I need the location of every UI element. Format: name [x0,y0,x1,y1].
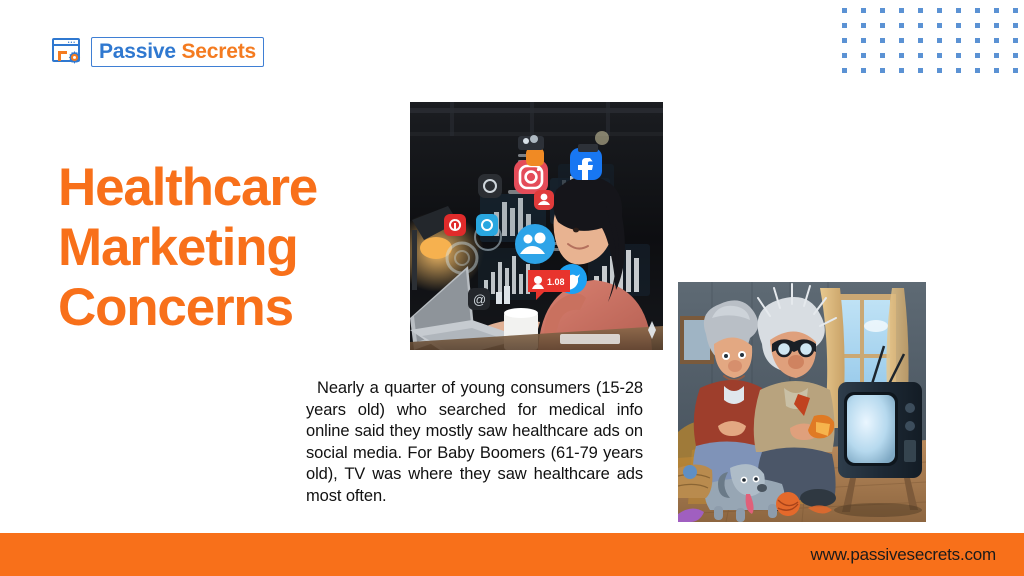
decorative-dot [975,53,980,58]
svg-text:1.08: 1.08 [547,277,565,287]
decorative-dot [842,53,847,58]
decorative-dot [994,38,999,43]
decorative-dot [880,23,885,28]
decorative-dot [956,38,961,43]
page-title-line-2: Marketing [58,218,408,278]
decorative-dot [1013,68,1018,73]
decorative-dot [937,8,942,13]
decorative-dot [975,68,980,73]
footer-bar: www.passivesecrets.com [0,533,1024,576]
decorative-dot [899,38,904,43]
decorative-dot [861,8,866,13]
decorative-dot [842,68,847,73]
decorative-dot [899,8,904,13]
logo-word-secrets: Secrets [181,40,256,63]
decorative-dot [918,38,923,43]
decorative-dot [994,53,999,58]
decorative-dot [937,53,942,58]
decorative-dot [994,8,999,13]
decorative-dot [956,8,961,13]
decorative-dot [994,68,999,73]
footer-website-url[interactable]: www.passivesecrets.com [811,545,997,565]
decorative-dot [842,8,847,13]
page-title-line-3: Concerns [58,278,408,338]
decorative-dot [880,68,885,73]
decorative-dot [937,23,942,28]
decorative-dot [861,68,866,73]
decorative-dot [956,23,961,28]
decorative-dot [937,68,942,73]
svg-text:@: @ [473,292,486,307]
decorative-dot [861,53,866,58]
decorative-dot [899,23,904,28]
site-logo[interactable]: ••• Passive Secrets [52,36,264,68]
body-paragraph: Nearly a quarter of young consumers (15-… [306,378,643,507]
decorative-dot [880,53,885,58]
decorative-dot [842,38,847,43]
decorative-dot [937,38,942,43]
decorative-dot [861,23,866,28]
decorative-dot [975,8,980,13]
decorative-dot [918,23,923,28]
decorative-dot [899,68,904,73]
decorative-dot [918,8,923,13]
browser-titlebar-icon: ••• [54,40,78,46]
image-elderly-couple-watching-tv [678,282,926,522]
decorative-dot [956,53,961,58]
decorative-dot [975,23,980,28]
browser-dots-icon: ••• [68,41,76,45]
decorative-dot [918,68,923,73]
logo-wordmark: Passive Secrets [91,37,264,67]
decorative-dot [1013,53,1018,58]
decorative-dot [880,38,885,43]
image-social-media-marketing: 1.08 @ [410,102,663,350]
decorative-dot [1013,38,1018,43]
logo-word-passive: Passive [99,40,176,63]
decorative-dot [861,38,866,43]
page-title-line-1: Healthcare [58,158,408,218]
gear-icon [66,50,83,67]
decorative-dot [880,8,885,13]
page-title: Healthcare Marketing Concerns [58,158,408,338]
decorative-dot [975,38,980,43]
decorative-dot [918,53,923,58]
decorative-dot [1013,23,1018,28]
decorative-dot-grid [842,8,1018,80]
decorative-dot [842,23,847,28]
passive-secrets-logo-icon: ••• [52,36,86,68]
decorative-dot [994,23,999,28]
decorative-dot [956,68,961,73]
decorative-dot [899,53,904,58]
decorative-dot [1013,8,1018,13]
